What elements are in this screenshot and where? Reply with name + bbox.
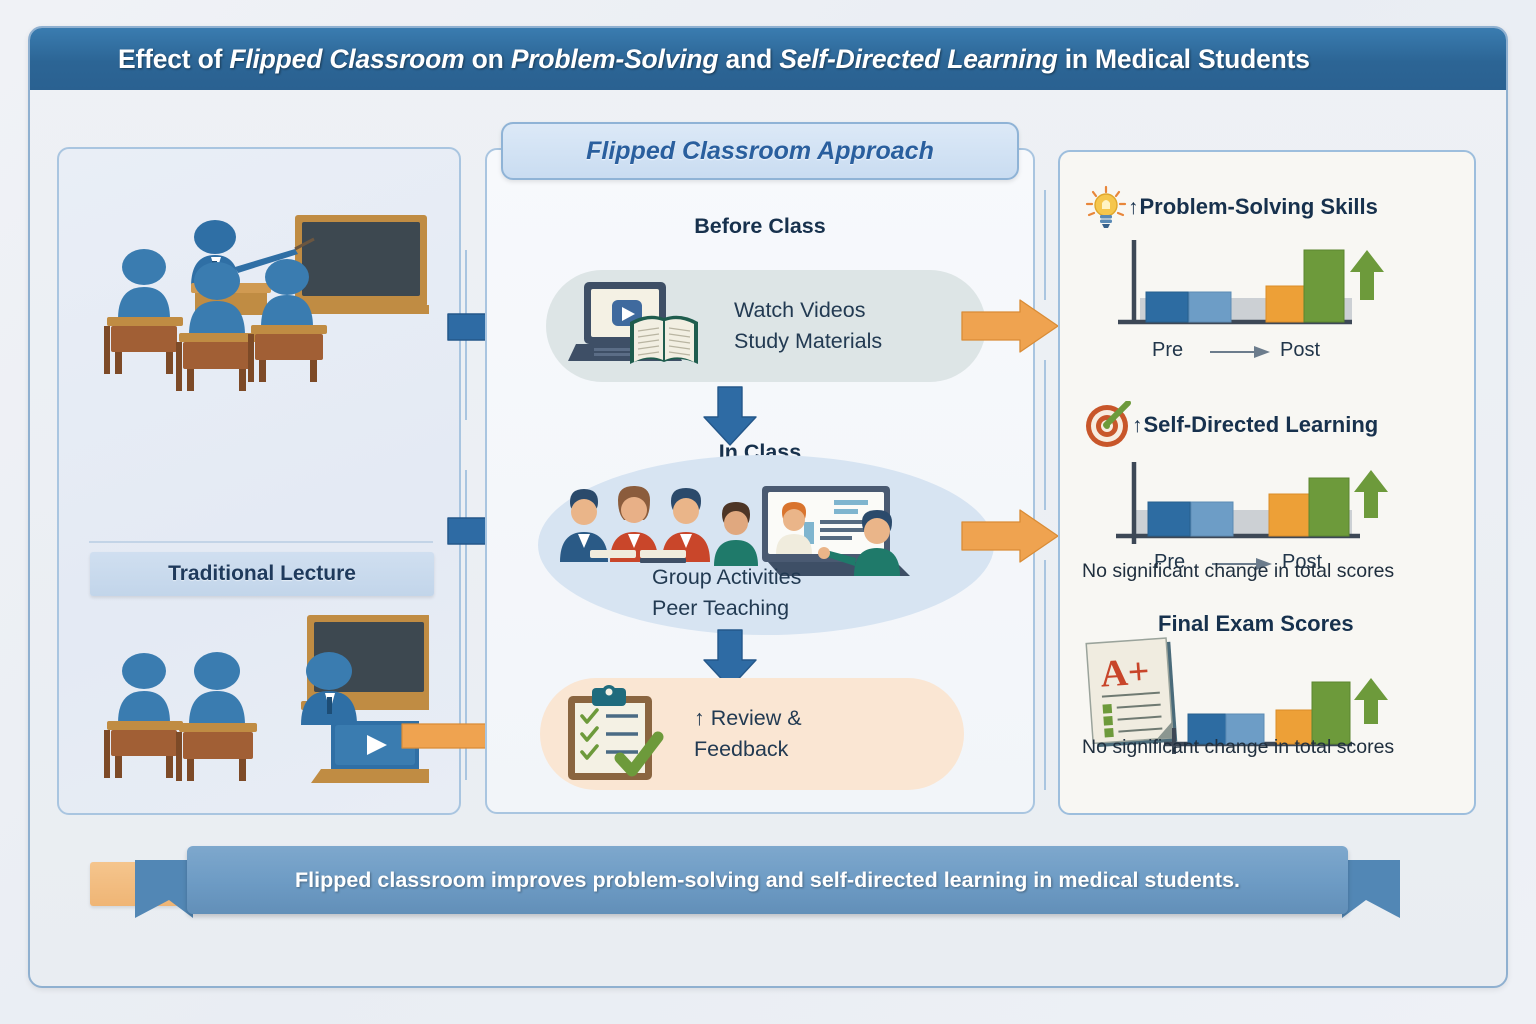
title-seg-3: Problem-Solving — [511, 44, 719, 74]
flipped-approach-header-text: Flipped Classroom Approach — [586, 137, 934, 166]
chart-problem-solving — [1112, 230, 1452, 350]
outcome-2-head: ↑ Self-Directed Learning — [1060, 402, 1474, 448]
title-seg-1: Flipped Classroom — [229, 44, 464, 74]
conclusion-ribbon-body: Flipped classroom improves problem-solvi… — [187, 846, 1348, 914]
traditional-lecture-label: Traditional Lecture — [90, 552, 434, 596]
chart-1-pre-label: Pre — [1152, 339, 1183, 362]
stage-title-before-class: Before Class — [487, 214, 1033, 239]
chart-1-post-label: Post — [1280, 339, 1320, 362]
outcome-2-title: Self-Directed Learning — [1144, 412, 1379, 438]
title-bar: Effect of Flipped Classroom on Problem-S… — [30, 28, 1506, 90]
before-class-line-2: Study Materials — [734, 326, 882, 357]
outcome-3-note: No significant change in total scores — [1082, 736, 1394, 759]
flipped-approach-header: Flipped Classroom Approach — [501, 122, 1019, 180]
outcome-1-title: Problem-Solving Skills — [1140, 194, 1378, 220]
title-seg-4: and — [718, 44, 779, 74]
ribbon-tail-left — [135, 860, 193, 918]
review-feedback-card: ↑ Review & Feedback — [540, 678, 964, 790]
review-feedback-line-2: Feedback — [694, 734, 802, 765]
conclusion-text: Flipped classroom improves problem-solvi… — [295, 868, 1240, 893]
title-seg-0: Effect of — [118, 44, 229, 74]
before-class-line-1: Watch Videos — [734, 295, 882, 326]
conclusion-ribbon: Flipped classroom improves problem-solvi… — [135, 838, 1400, 930]
traditional-lecture-illustration — [99, 205, 429, 405]
arrow-down-before-to-in-class — [700, 385, 760, 447]
outcome-2-note: No significant change in total scores — [1082, 560, 1394, 583]
infographic-root: Effect of Flipped Classroom on Problem-S… — [0, 0, 1536, 1024]
in-class-text: Group Activities Peer Teaching — [652, 562, 801, 623]
in-class-line-1: Group Activities — [652, 562, 801, 593]
ribbon-tail-right — [1342, 860, 1400, 918]
clipboard-checklist-icon — [562, 684, 680, 784]
lightbulb-icon — [1084, 185, 1128, 229]
chart-self-directed — [1112, 448, 1452, 564]
outcome-problem-solving: ↑ Problem-Solving Skills Pre — [1060, 184, 1474, 339]
outcome-final-exam: Final Exam Scores A+ — [1060, 604, 1474, 765]
arrow-before-class-to-outcome-1 — [960, 296, 1060, 358]
outcome-1-arrow: ↑ — [1128, 197, 1139, 218]
svg-text:A+: A+ — [1099, 650, 1151, 695]
traditional-lecture-label-text: Traditional Lecture — [168, 562, 356, 586]
in-class-line-2: Peer Teaching — [652, 593, 801, 624]
flipped-classroom-illustration — [99, 609, 429, 809]
outcome-3-title: Final Exam Scores — [1158, 611, 1354, 637]
outcomes-panel: ↑ Problem-Solving Skills Pre — [1058, 150, 1476, 815]
panel-divider — [89, 541, 433, 543]
outcome-1-head: ↑ Problem-Solving Skills — [1060, 184, 1474, 230]
page-title: Effect of Flipped Classroom on Problem-S… — [118, 44, 1310, 75]
target-dart-icon — [1084, 401, 1132, 449]
a-plus-paper-icon: A+ — [1086, 638, 1177, 748]
arrow-in-class-to-outcome-2 — [960, 506, 1060, 568]
before-class-card: Watch Videos Study Materials — [546, 270, 986, 382]
title-seg-5: Self-Directed Learning — [779, 44, 1057, 74]
review-feedback-line-1: ↑ Review & — [694, 703, 802, 734]
outcome-self-directed: ↑ Self-Directed Learning Pre Post — [1060, 402, 1474, 551]
title-seg-6: in Medical Students — [1058, 44, 1310, 74]
outcome-2-arrow: ↑ — [1132, 415, 1143, 436]
title-seg-2: on — [465, 44, 511, 74]
laptop-video-icon — [568, 274, 718, 378]
pre-post-arrow-icon-1 — [1210, 344, 1272, 360]
